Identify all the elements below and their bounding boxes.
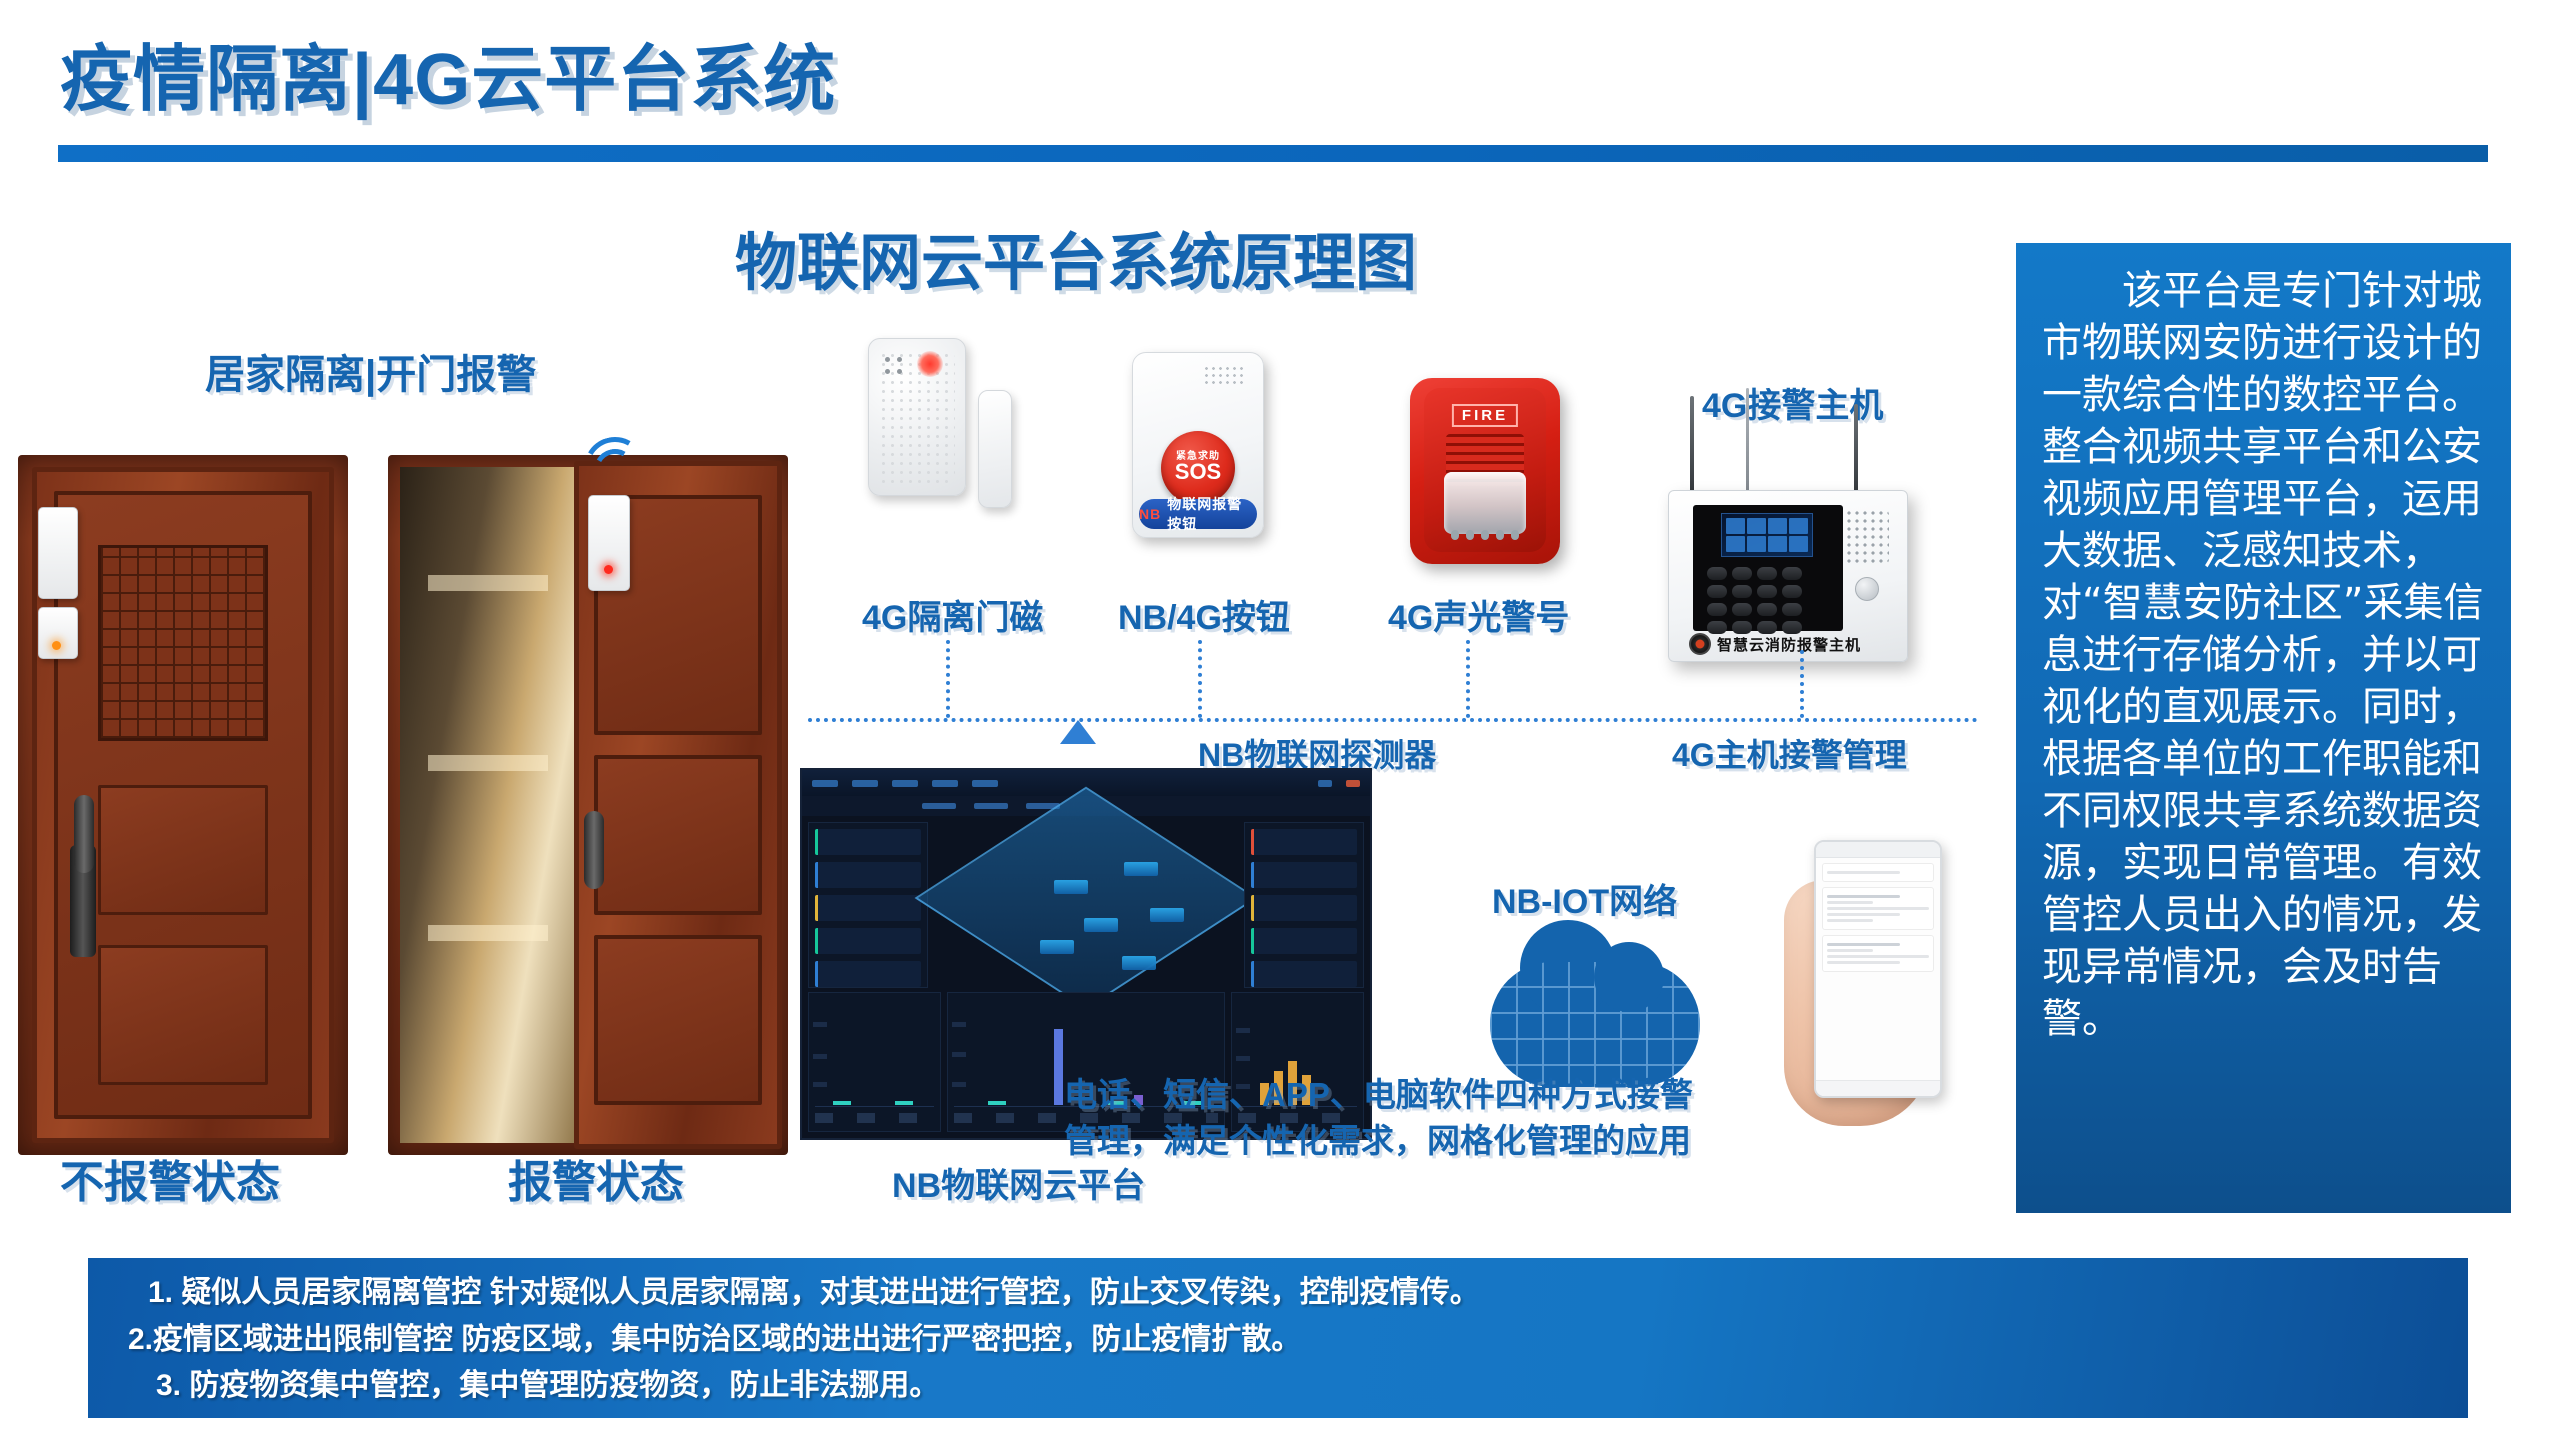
door-closed-illustration [18,455,348,1155]
host-keypad[interactable] [1707,567,1802,634]
left-section-label: 居家隔离|开门报警 [205,342,536,400]
phone-in-hand-illustration [1776,840,1986,1140]
speaker-grille-icon [1203,365,1247,387]
network-label: NB-IOT网络 [1492,874,1677,923]
mobile-app-screen[interactable] [1814,840,1942,1098]
device-fire-siren: FIRE [1410,378,1570,578]
title-divider [58,145,2488,162]
strobe-bulbs-icon [1451,530,1519,540]
device-label-1: NB/4G按钮 [1118,590,1290,639]
app-footer-bar[interactable] [1816,1080,1940,1096]
host-knob-icon[interactable] [1855,577,1879,601]
bus-label-1: 4G主机接警管理 [1672,730,1907,776]
door-sensor-magnet [38,607,78,659]
dashboard-3d-map [934,822,1238,988]
device-brand-strip: NB 物联网报警按钮 [1139,499,1257,529]
bus-drop-3 [1800,650,1804,718]
app-card[interactable] [1822,863,1934,882]
bus-main-line [808,718,1978,722]
door-state-label-2: 报警状态 [508,1146,684,1210]
bus-drop-0 [946,640,950,718]
device-alarm-host: 智慧云消防报警主机 [1668,390,1958,660]
slide-root: 疫情隔离|4G云平台系统 物联网云平台系统原理图 居家隔离|开门报警 不报警状态 [0,0,2560,1440]
device-sos-button: 紧急求助 SOS NB 物联网报警按钮 [1132,352,1282,552]
door-state-label-1: 不报警状态 [60,1146,280,1210]
door-sensor-led-alarm-icon [604,565,613,574]
dashboard-right-kpis [1244,822,1364,988]
host-lcd-screen [1721,513,1813,557]
device-door-magnet [868,338,1048,558]
platform-label: NB物联网云平台 [892,1158,1145,1207]
bus-drop-2 [1466,640,1470,718]
host-keypad-panel [1693,505,1843,631]
door-sensor-led-icon [52,641,61,650]
host-speaker-icon [1845,509,1889,565]
chart-card-1 [808,992,941,1132]
police-emblem-icon [1689,633,1711,655]
bus-arrow-down-icon [1060,720,1096,744]
device-label-2: 4G声光警号 [1388,590,1569,639]
app-header [1816,842,1940,858]
side-info-panel: 该平台是专门针对城市物联网安防进行设计的一款综合性的数控平台。整合视频共享平台和… [2016,243,2511,1213]
door-open-illustration [388,455,788,1155]
bottom-line-2: 2.疫情区域进出限制管控 防疫区域，集中防治区域的进出进行严密把控，防止疫情扩散… [114,1317,2442,1364]
strobe-lens [1444,472,1526,534]
bottom-line-1: 1. 疑似人员居家隔离管控 针对疑似人员居家隔离，对其进出进行管控，防止交叉传染… [114,1270,2442,1317]
fire-tag: FIRE [1452,404,1518,427]
door-sensor-body [38,507,78,599]
page-title: 疫情隔离|4G云平台系统 [60,20,836,125]
dashboard-left-kpis [808,822,928,988]
diagram-heading: 物联网云平台系统原理图 [735,212,1417,302]
door-sensor-body-alarm [588,495,630,591]
network-description: 电话、短信、APP、电脑软件四种方式接警管理，满足个性化需求，网格化管理的应用 [1064,1072,1704,1163]
bottom-line-3: 3. 防疫物资集中管控，集中管理防疫物资，防止非法挪用。 [114,1363,2442,1410]
device-label-0: 4G隔离门磁 [862,590,1043,639]
bottom-info-band: 1. 疑似人员居家隔离管控 针对疑似人员居家隔离，对其进出进行管控，防止交叉传染… [88,1258,2468,1418]
magnet-led-icon [917,351,943,377]
app-card[interactable] [1822,887,1934,930]
bus-drop-1 [1198,640,1202,718]
app-card[interactable] [1822,935,1934,972]
host-brand: 智慧云消防报警主机 [1689,633,1861,655]
